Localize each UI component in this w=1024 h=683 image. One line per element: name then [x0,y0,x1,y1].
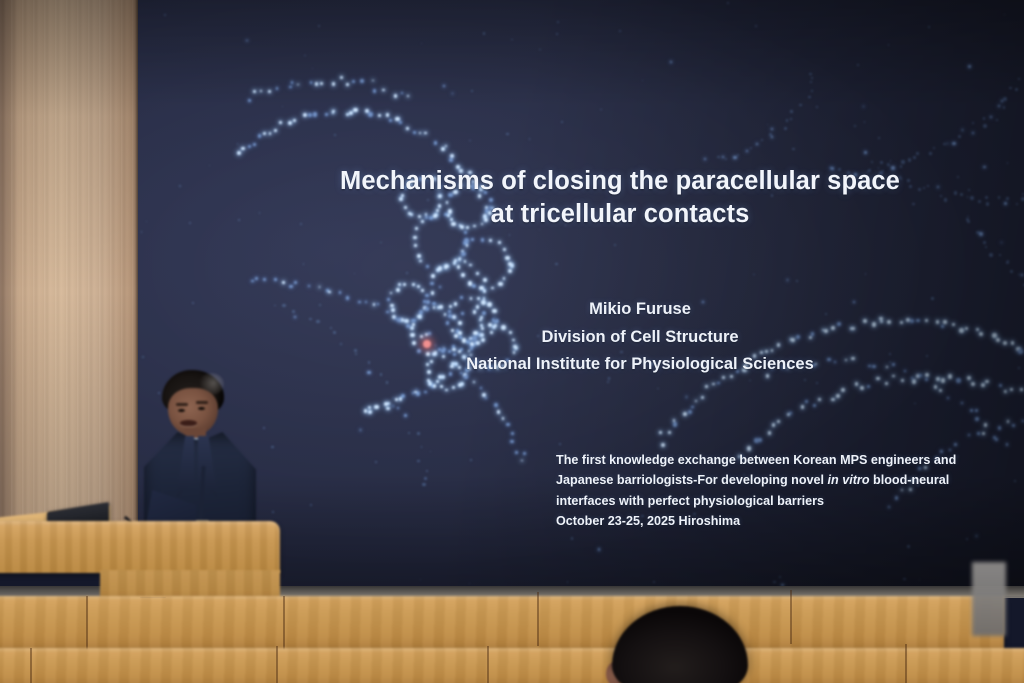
junction-dot [857,64,859,66]
junction-dot [691,406,694,409]
junction-dot [401,394,405,398]
junction-dot [503,248,506,251]
junction-dot [985,196,988,199]
junction-dot [489,239,492,242]
junction-dot [996,119,998,121]
junction-dot [925,373,929,377]
junction-dot [282,106,283,107]
junction-dot [805,400,808,403]
junction-dot [237,143,238,144]
junction-dot [1003,341,1007,345]
junction-dot [607,381,609,383]
junction-dot [417,432,420,435]
junction-dot [965,327,968,330]
junction-dot [424,477,427,480]
junction-dot [399,121,402,124]
junction-dot [796,280,798,282]
junction-dot [1007,420,1010,423]
junction-dot [598,548,600,550]
junction-dot [373,303,375,305]
junction-dot [452,93,453,94]
junction-dot [855,382,859,386]
junction-dot [313,112,318,117]
junction-dot [292,310,295,313]
junction-dot [910,319,914,323]
junction-dot [390,292,392,294]
junction-dot [968,189,970,191]
junction-dot [790,118,792,120]
junction-dot [936,320,940,324]
junction-dot [368,410,372,414]
junction-dot [255,277,258,280]
junction-dot [871,161,873,163]
junction-dot [913,156,916,159]
junction-dot [259,212,260,213]
junction-dot [416,391,420,395]
junction-dot [995,438,998,441]
junction-dot [865,273,867,275]
junction-dot [506,423,510,427]
junction-dot [753,274,755,276]
junction-dot [457,265,461,269]
junction-dot [320,82,323,85]
junction-dot [523,452,526,455]
junction-dot [315,82,318,85]
junction-dot [688,410,692,414]
junction-dot [494,403,498,407]
junction-dot [717,382,720,385]
junction-dot [334,134,336,136]
junction-dot [421,43,422,44]
junction-dot [1009,87,1012,90]
junction-dot [328,291,330,293]
junction-dot [349,111,353,115]
junction-dot [925,378,928,381]
junction-dot [668,431,671,434]
junction-dot [916,152,919,155]
junction-dot [375,461,377,463]
junction-dot [975,409,978,412]
junction-dot [497,410,500,413]
junction-dot [659,431,662,434]
junction-dot [1004,14,1005,15]
junction-dot [461,250,464,253]
junction-dot [890,160,891,161]
junction-dot [319,286,321,288]
junction-dot [387,402,390,405]
junction-dot [449,158,453,162]
junction-dot [936,377,939,380]
junction-dot [967,196,969,198]
junction-dot [1015,88,1018,91]
junction-dot [440,385,443,388]
junction-dot [471,238,474,241]
junction-dot [911,377,913,379]
junction-dot [384,402,388,406]
junction-dot [999,384,1002,387]
junction-dot [506,133,508,135]
junction-dot [294,316,296,318]
desk-seam [905,644,907,683]
junction-dot [464,260,467,263]
junction-dot [417,460,419,462]
junction-dot [925,319,928,322]
junction-dot [404,414,407,417]
junction-dot [722,156,724,158]
junction-dot [916,374,920,378]
junction-dot [864,151,866,153]
junction-dot [431,384,434,387]
junction-dot [903,578,905,580]
junction-dot [420,579,421,580]
junction-dot [288,121,292,125]
junction-dot [417,254,421,258]
junction-dot [310,81,312,83]
junction-dot [944,198,948,202]
junction-dot [398,283,401,286]
junction-dot [914,403,916,405]
junction-dot [555,263,557,265]
junction-dot [985,246,987,248]
junction-dot [461,273,465,277]
junction-dot [444,265,448,269]
junction-dot [786,119,788,121]
junction-dot [439,286,441,288]
junction-dot [458,383,462,387]
junction-dot [395,117,400,122]
junction-dot [382,89,384,91]
junction-dot [438,266,443,271]
junction-dot [454,259,457,262]
junction-dot [365,109,369,113]
junction-dot [810,81,812,83]
junction-dot [431,274,435,278]
junction-dot [417,285,420,288]
junction-dot [319,304,321,306]
junction-dot [705,385,708,388]
junction-dot [952,142,956,146]
junction-dot [977,432,980,435]
slide-author-block: Mikio Furuse Division of Cell Structure … [380,296,900,379]
junction-dot [253,90,256,93]
junction-dot [441,147,445,151]
junction-dot [310,504,312,506]
junction-dot [571,537,573,539]
junction-dot [811,90,813,92]
junction-dot [725,158,727,160]
junction-dot [406,272,408,274]
junction-dot [539,49,541,51]
junction-dot [941,378,945,382]
junction-dot [297,84,299,86]
junction-dot [303,263,305,265]
junction-dot [981,383,985,387]
junction-dot [984,423,987,426]
speaker-eye-right [198,407,205,410]
junction-dot [498,241,501,244]
junction-dot [816,382,818,384]
junction-dot [355,353,357,355]
junction-dot [473,381,476,384]
junction-dot [1001,242,1002,243]
junction-dot [864,121,865,122]
junction-dot [509,234,511,236]
junction-dot [424,132,427,135]
junction-dot [779,576,781,578]
junction-dot [164,14,166,16]
junction-dot [885,382,888,385]
author-division: Division of Cell Structure [380,324,900,352]
junction-dot [426,470,428,472]
junction-dot [508,262,512,266]
junction-dot [386,407,390,411]
junction-dot [931,297,933,299]
speaker-mouth [180,420,197,426]
junction-dot [209,165,210,166]
junction-dot [1006,261,1009,264]
junction-dot [333,331,336,334]
desk-seam [86,596,88,650]
junction-dot [998,426,1002,430]
junction-dot [308,113,312,117]
junction-dot [996,338,1000,342]
junction-dot [880,161,883,164]
junction-dot [430,451,431,452]
junction-dot [998,105,1000,107]
junction-dot [771,128,773,130]
junction-dot [391,404,394,407]
junction-dot [989,253,993,257]
junction-dot [428,381,432,385]
junction-dot [374,405,379,410]
junction-dot [878,137,880,139]
desk-seam [276,646,278,683]
junction-dot [958,135,961,138]
junction-dot [968,434,970,436]
junction-dot [1020,388,1023,391]
junction-dot [291,81,294,84]
junction-dot [179,185,181,187]
junction-dot [352,80,355,83]
junction-dot [260,90,262,92]
junction-dot [799,104,802,107]
junction-dot [992,333,996,337]
junction-dot [358,301,360,303]
junction-dot [443,85,444,86]
junction-dot [368,406,371,409]
junction-dot [771,136,773,138]
junction-dot [458,258,461,261]
footer-line-2-italic: in vitro [828,473,870,487]
junction-dot [419,132,422,135]
junction-dot [559,443,561,445]
junction-dot [433,384,437,388]
author-institute: National Institute for Physiological Sci… [380,351,900,379]
junction-dot [412,283,415,286]
desk-row-back [0,596,1004,652]
junction-dot [460,382,464,386]
junction-dot [413,131,416,134]
junction-dot [360,429,361,430]
junction-dot [389,119,392,122]
junction-dot [808,96,810,98]
junction-dot [979,232,982,235]
junction-dot [561,121,563,123]
junction-dot [251,280,254,283]
slide-title-line-2: at tricellular contacts [300,198,940,231]
junction-dot [408,432,410,434]
footer-line-4: October 23-25, 2025 Hiroshima [556,511,986,531]
junction-dot [1007,162,1009,164]
junction-dot [502,417,504,419]
desk-seam [537,592,539,646]
junction-dot [787,279,789,281]
junction-dot [505,256,509,260]
junction-dot [912,379,917,384]
junction-dot [468,281,472,285]
junction-dot [268,90,271,93]
junction-dot [445,389,447,391]
junction-dot [354,273,355,274]
junction-dot [831,398,834,401]
junction-dot [986,202,989,205]
junction-dot [670,61,672,63]
junction-dot [481,287,484,290]
junction-dot [263,132,266,135]
junction-dot [737,154,739,156]
junction-dot [947,143,949,145]
junction-dot [483,32,485,34]
junction-dot [419,260,422,263]
junction-dot [332,82,335,85]
junction-dot [908,158,912,162]
junction-dot [421,289,424,292]
footer-line-2-pre: Japanese barriologists-For developing no… [556,473,828,487]
junction-dot [836,394,839,397]
junction-dot [237,151,241,155]
junction-dot [978,200,981,203]
junction-dot [784,127,787,130]
junction-dot [372,80,374,82]
junction-dot [146,221,147,222]
footer-line-2-post: blood-neural [870,473,950,487]
junction-dot [983,124,987,128]
junction-dot [999,254,1001,256]
junction-dot [510,263,514,267]
junction-dot [436,268,440,272]
junction-dot [809,73,811,75]
junction-dot [789,412,792,415]
junction-dot [476,272,479,275]
junction-dot [990,116,993,119]
junction-dot [483,289,486,292]
speaker-brow-left [176,403,188,406]
junction-dot [503,256,505,258]
footer-line-2: Japanese barriologists-For developing no… [556,470,986,490]
junction-dot [1004,202,1007,205]
junction-dot [392,397,394,399]
junction-dot [253,143,256,146]
junction-dot [503,277,506,280]
junction-dot [854,125,856,127]
junction-dot [360,79,364,83]
desk-row-front [0,648,1024,683]
junction-dot [983,117,985,119]
junction-dot [998,196,1000,198]
junction-dot [498,282,502,286]
junction-dot [431,291,434,294]
junction-dot [192,302,194,304]
junction-dot [816,106,818,108]
junction-dot [863,106,865,108]
junction-dot [472,284,476,288]
footer-line-3: interfaces with perfect physiological ba… [556,491,986,511]
junction-dot [967,376,971,380]
junction-dot [982,432,985,435]
junction-dot [241,147,245,151]
junction-dot [1018,349,1023,354]
junction-dot [966,218,969,221]
junction-dot [378,114,381,117]
speaker-brow-right [196,401,208,404]
junction-dot [888,44,889,45]
junction-dot [971,382,975,386]
junction-dot [422,483,425,486]
junction-dot [947,397,949,399]
junction-dot [332,110,335,113]
junction-dot [367,371,370,374]
junction-dot [246,40,248,42]
author-name: Mikio Furuse [380,296,900,324]
junction-dot [960,193,963,196]
junction-dot [421,446,423,448]
junction-dot [346,296,350,300]
junction-dot [704,158,706,160]
junction-dot [399,397,403,401]
junction-dot [414,244,417,247]
junction-dot [470,459,472,461]
junction-dot [867,385,870,388]
junction-dot [142,356,144,358]
junction-dot [801,405,805,409]
junction-dot [482,393,486,397]
junction-dot [189,222,191,224]
junction-dot [1004,390,1007,393]
junction-dot [1010,388,1013,391]
junction-dot [464,238,469,243]
junction-dot [642,80,643,81]
junction-dot [967,216,969,218]
junction-dot [567,581,568,582]
junction-dot [975,417,979,421]
junction-dot [926,355,928,357]
junction-dot [453,261,456,264]
junction-dot [756,143,758,145]
junction-dot [787,413,790,416]
junction-dot [407,95,409,97]
junction-dot [380,242,381,243]
junction-dot [274,278,277,281]
junction-dot [929,152,932,155]
junction-dot [614,244,616,246]
junction-dot [401,92,403,94]
junction-dot [952,323,955,326]
junction-dot [1018,274,1020,276]
junction-dot [263,278,266,281]
junction-dot [961,402,963,404]
junction-dot [354,349,357,352]
desk-seam [487,646,489,683]
